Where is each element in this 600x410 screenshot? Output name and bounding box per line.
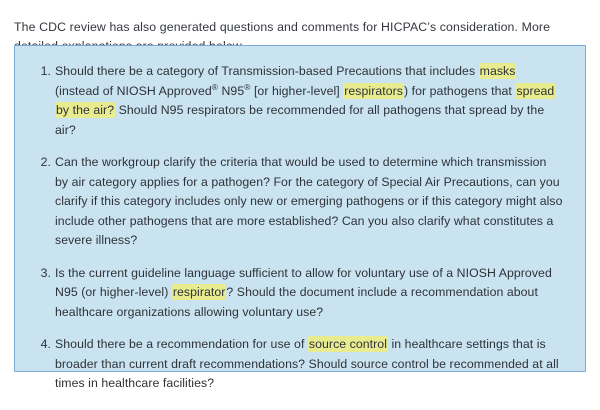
question-text-run: Should N95 respirators be recommended fo… [55,103,544,137]
highlighted-term: respirator [172,284,227,300]
question-item: Should there be a category of Transmissi… [55,62,563,140]
document-page: The CDC review has also generated questi… [0,0,600,402]
question-text-run: ) for pathogens that [404,84,515,98]
highlighted-term: source control [308,336,388,352]
question-item: Is the current guideline language suffic… [55,264,563,323]
question-text-run: Should there be a recommendation for use… [55,337,308,351]
question-text-run: Should there be a category of Transmissi… [55,64,479,78]
question-text-run: [or higher-level] [250,84,343,98]
question-text-run: Can the workgroup clarify the criteria t… [55,155,563,247]
question-item: Should there be a recommendation for use… [55,335,563,394]
highlighted-term: respirators [343,83,404,99]
question-text-run: N95 [218,84,244,98]
question-text-run: (instead of NIOSH Approved [55,84,212,98]
questions-callout-panel: Should there be a category of Transmissi… [14,45,586,372]
highlighted-term: masks [479,63,517,79]
questions-list: Should there be a category of Transmissi… [15,46,585,410]
question-item: Can the workgroup clarify the criteria t… [55,153,563,251]
